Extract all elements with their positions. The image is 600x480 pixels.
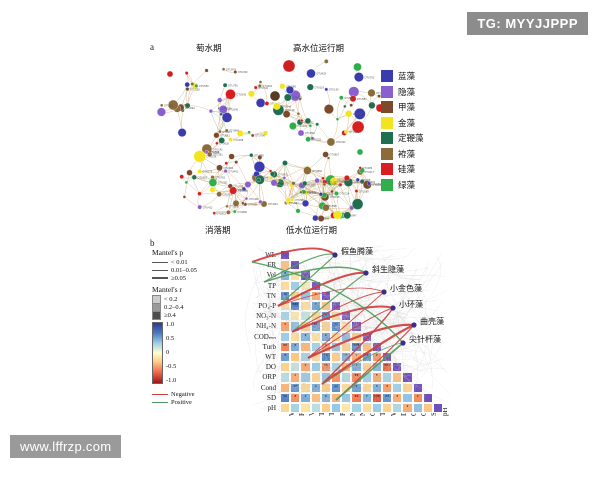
matrix-significance: * [372,386,382,391]
network-node [191,82,194,85]
network-title-2: 高水位运行期 [293,42,344,54]
matrix-cell [331,311,341,321]
matrix-significance: * [280,355,290,360]
network-node [282,160,287,165]
mantel-node-dot [363,270,368,275]
taxa-legend-label: 绿藻 [398,179,415,191]
matrix-cell [331,332,341,342]
network-title-4: 低水位运行期 [286,224,337,236]
matrix-row-label: Cond [228,384,276,392]
network-node [307,69,316,78]
matrix-cell [392,403,402,413]
network-node [343,105,346,108]
matrix-cell [311,393,321,403]
matrix-cell [321,383,331,393]
matrix-cell [372,403,382,413]
network-node [299,191,302,194]
matrix-cell [402,372,412,382]
network-node [336,118,339,121]
taxa-legend-label: 定鞭藻 [398,132,424,144]
network-node [296,209,301,214]
network-node [259,200,263,204]
matrix-cell [300,403,310,413]
matrix-cell [311,332,321,342]
matrix-row-label: Turb [228,343,276,351]
edge-sign-legend: NegativePositive [152,390,194,406]
network-node-label: OTU550 [199,84,209,88]
taxa-legend-item: 硅藻 [381,163,424,175]
matrix-cell [423,403,433,413]
network-cluster: OTU317OTU756OTU796OTU333OTU142OTU626OTU3… [157,67,280,154]
network-node [256,98,265,107]
matrix-cell [372,342,382,352]
matrix-cell [280,301,290,311]
mantel-node-dot [390,305,395,310]
colorbar-tick: 1.0 [166,322,176,329]
edge-sign-line [152,402,168,403]
network-node [215,142,218,145]
mantel-node-label: 曲壳藻 [420,316,444,327]
matrix-significance: * [311,304,321,309]
mantel-node-dot [400,340,405,345]
network-node-label: OTU780 [254,153,264,157]
matrix-significance: *** [321,314,331,319]
network-node-label: OTU189 [359,189,369,193]
network-node [323,152,329,158]
network-node-label: OTU368 [233,138,243,142]
network-node [209,109,213,113]
taxa-color-swatch [381,86,393,98]
matrix-cell [290,352,300,362]
mantel-r-label: 0.2–0.4 [164,304,184,311]
matrix-row-label: CODₘₙ [228,333,276,341]
matrix-significance: *** [382,365,392,370]
mantel-node-label: 假鱼腾藻 [341,246,373,257]
network-node [368,89,376,97]
network-node-label: OTU998 [344,96,354,100]
matrix-cell [300,352,310,362]
matrix-cell [362,332,372,342]
matrix-row-label: Vel [228,271,276,279]
network-node [225,89,235,99]
taxa-legend-label: 隐藻 [398,86,415,98]
matrix-cell [392,362,402,372]
network-node-label: OTU792 [364,75,374,79]
matrix-significance: * [300,396,310,401]
network-node-label: OTU849 [229,129,239,133]
taxa-color-swatch [381,101,393,113]
matrix-cell [321,321,331,331]
network-node-label: OTU551 [248,203,258,207]
network-cluster: OTU339OTU417OTU303OTU599OTU431OTU947OTU9… [269,152,383,222]
network-node-label: OTU974 [226,67,236,71]
matrix-cell [280,281,290,291]
matrix-row-label: WT [228,353,276,361]
mantel-r-item: < 0.2 [152,295,230,303]
figure-canvas: OTU317OTU756OTU796OTU333OTU142OTU626OTU3… [0,0,600,480]
matrix-cell [413,383,423,393]
mantel-r-item: 0.2–0.4 [152,303,230,311]
mantel-background-link [355,274,381,297]
network-node [249,153,253,157]
matrix-cell [321,291,331,301]
network-node [220,113,223,116]
network-node [222,113,232,123]
matrix-cell [280,362,290,372]
network-node [194,150,206,162]
taxa-color-swatch [381,163,393,175]
network-node [352,199,363,210]
network-node [273,103,280,110]
taxa-color-swatch [381,148,393,160]
edge-sign-item: Negative [152,390,194,398]
edge-sign-label: Negative [171,391,194,398]
matrix-cell [341,383,351,393]
matrix-cell [341,311,351,321]
mantel-node-label: 小环藻 [399,299,423,310]
network-node [283,60,295,72]
network-node-label: OTU300 [297,124,307,128]
matrix-cell [290,270,300,280]
network-node [355,190,358,193]
matrix-significance: * [362,396,372,401]
matrix-cell [331,362,341,372]
mantel-background-link [396,313,404,333]
panel-a-tag: a [150,42,154,52]
matrix-cell [321,403,331,413]
matrix-cell [300,342,310,352]
network-node-label: OTU781 [215,176,225,180]
matrix-row-label: pH [228,404,276,412]
network-node [178,128,186,136]
matrix-cell [331,301,341,311]
network-node [270,172,275,177]
network-node-label: OTU469 [249,197,259,201]
matrix-cell [331,393,341,403]
network-node-label: OTU947 [347,214,357,218]
matrix-significance: ** [290,386,300,391]
mantel-legend: Mantel's p < 0.010.01–0.05≥0.05 Mantel's… [152,248,230,319]
matrix-significance: ** [382,396,392,401]
network-node [359,167,362,170]
network-node [183,195,186,198]
taxa-legend-label: 蓝藻 [398,70,415,82]
taxa-legend-item: 定鞭藻 [381,132,424,144]
network-node [195,84,198,87]
matrix-significance: ** [321,355,331,360]
taxa-legend-item: 绿藻 [381,179,424,191]
matrix-significance: *** [372,396,382,401]
network-node-label: OTU705 [306,184,316,188]
matrix-cell [280,403,290,413]
matrix-significance: * [290,345,300,350]
network-node [357,149,363,155]
network-node-label: OTU855 [323,192,333,196]
network-node [198,205,202,209]
matrix-significance: * [382,386,392,391]
network-title-1: 萄水期 [196,42,222,54]
network-node-label: OTU843 [353,112,363,116]
matrix-cell [362,362,372,372]
correlation-colorbar: 1.00.50-0.5-1.0 [152,322,176,384]
network-node [229,154,235,160]
network-node-label: OTU994 [268,202,278,206]
matrix-cell [311,342,321,352]
matrix-cell [300,270,310,280]
network-node [198,169,202,173]
network-node [187,170,193,176]
network-node-label: OTU499 [327,183,337,187]
co-occurrence-networks: OTU317OTU756OTU796OTU333OTU142OTU626OTU3… [0,0,600,240]
taxa-legend-item: 袸藻 [381,148,424,160]
network-node-label: OTU339 [319,216,329,220]
matrix-significance: * [290,375,300,380]
network-node [354,72,363,81]
network-node [233,210,236,213]
network-node [333,211,342,220]
matrix-significance: * [280,324,290,329]
mantel-p-label: < 0.01 [171,259,188,266]
network-node [289,122,296,129]
matrix-cell [362,372,372,382]
matrix-row-label: ORP [228,373,276,381]
network-node [235,160,238,163]
matrix-cell [362,403,372,413]
taxa-legend-item: 隐藻 [381,86,424,98]
network-node [192,175,197,180]
taxa-legend: 蓝藻隐藻甲藻金藻定鞭藻袸藻硅藻绿藻 [381,70,424,191]
network-node-label: OTU658 [339,180,349,184]
matrix-cell [280,383,290,393]
mantel-p-title: Mantel's p [152,248,230,257]
matrix-significance: * [402,406,412,411]
network-node [157,108,166,117]
network-node [223,83,227,87]
matrix-cell [290,321,300,331]
matrix-cell [341,372,351,382]
matrix-cell [341,362,351,372]
network-node [216,165,222,171]
matrix-cell [362,383,372,393]
mantel-p-line [152,262,168,263]
network-node [334,191,338,195]
network-node-label: OTU412 [203,205,213,209]
network-node-label: OTU514 [238,189,248,193]
matrix-significance: ** [280,294,290,299]
matrix-cell [311,362,321,372]
matrix-cell [351,321,361,331]
matrix-cell [311,281,321,291]
network-node [226,205,229,208]
network-node-label: OTU333 [238,70,248,74]
network-node-label: OTU581 [357,97,367,101]
matrix-significance: * [300,335,310,340]
network-node-label: OTU321 [312,137,322,141]
network-node [284,94,291,101]
mantel-r-title: Mantel's r [152,285,230,294]
matrix-significance: * [331,375,341,380]
network-node-label: OTU796 [255,134,265,138]
matrix-significance: ** [311,324,321,329]
matrix-cell [341,332,351,342]
network-node-label: OTU150 [190,87,200,91]
network-node-label: OTU809 [305,131,315,135]
network-node-label: OTU214 [340,192,350,196]
matrix-cell [300,311,310,321]
matrix-cell [392,372,402,382]
matrix-cell [280,372,290,382]
network-node [327,138,335,146]
matrix-significance: *** [290,304,300,309]
network-node-label: OTU486 [362,166,372,170]
network-node [245,181,251,187]
colorbar-gradient [152,322,163,384]
network-node [297,112,300,115]
matrix-cell [423,393,433,403]
network-node [350,104,353,107]
matrix-cell [372,362,382,372]
network-node [319,192,323,196]
network-node [316,123,319,126]
network-node-label: OTU191 [213,153,223,157]
mantel-p-label: ≥0.05 [171,275,186,282]
network-node [344,130,348,134]
matrix-cell [290,311,300,321]
network-node-label: OTU882 [312,169,322,173]
network-node-label: OTU119 [314,85,324,89]
network-node [180,175,184,179]
matrix-significance: * [351,365,361,370]
mantel-node-dot [332,252,337,257]
network-node [218,130,221,133]
network-title-3: 消落期 [205,224,231,236]
network-node [213,212,216,215]
mantel-background-link [359,264,364,299]
network-node-label: OTU681 [220,134,230,138]
matrix-significance: ** [280,345,290,350]
mantel-background-link [319,256,395,263]
network-node [339,96,343,100]
network-node-label: OTU599 [327,204,337,208]
matrix-significance: * [280,273,290,278]
network-node-label: OTU211 [164,104,174,108]
matrix-cell [311,372,321,382]
mantel-node-dot [381,289,386,294]
network-node-label: OTU324 [336,140,346,144]
mantel-p-item: < 0.01 [152,258,230,266]
network-node [254,86,257,89]
network-node [248,131,251,134]
network-node-label: OTU441 [228,169,238,173]
network-node [327,157,330,160]
matrix-cell [300,321,310,331]
network-node-label: OTU932 [304,120,314,124]
network-node [307,84,314,91]
matrix-row-label: WL [228,251,276,259]
matrix-cell [280,332,290,342]
taxa-legend-item: 金藻 [381,117,424,129]
taxa-legend-item: 甲藻 [381,101,424,113]
taxa-color-swatch [381,70,393,82]
matrix-significance: ** [351,375,361,380]
matrix-cell [341,393,351,403]
mantel-background-link [360,285,372,317]
network-node [324,59,328,63]
network-node-label: OTU139 [329,88,339,92]
matrix-cell [341,321,351,331]
matrix-cell [433,403,443,413]
matrix-cell [290,403,300,413]
network-node-label: OTU242 [236,93,246,97]
matrix-cell [382,403,392,413]
matrix-cell [300,372,310,382]
matrix-cell [362,342,372,352]
mantel-background-link [372,247,388,322]
matrix-cell [321,301,331,311]
matrix-cell [402,383,412,393]
matrix-significance: ** [351,396,361,401]
network-node [315,178,320,183]
matrix-significance: * [300,365,310,370]
network-node-label: OTU756 [228,83,238,87]
network-node-label: OTU827 [329,153,339,157]
matrix-row-label: NO₃-N [228,312,276,320]
mantel-node-label: 斜生隐藻 [372,264,404,275]
matrix-cell [321,372,331,382]
matrix-row-label: DO [228,363,276,371]
matrix-significance: * [321,335,331,340]
network-node [257,178,261,182]
network-node [217,98,222,103]
matrix-cell [290,362,300,372]
network-node [241,202,244,205]
network-node-label: OTU547 [303,190,313,194]
taxa-legend-label: 硅藻 [398,163,415,175]
network-node [214,132,220,138]
network-node [271,180,277,186]
colorbar-tick: -1.0 [166,378,176,385]
mantel-r-label: < 0.2 [164,296,177,303]
network-node-label: OTU139 [285,108,295,112]
network-node [167,71,173,77]
matrix-cell [290,260,300,270]
network-node [185,82,190,87]
matrix-cell [351,332,361,342]
network-node [349,87,359,97]
matrix-cell [413,403,423,413]
network-node [290,198,293,201]
network-node [217,192,222,197]
matrix-cell [382,372,392,382]
matrix-cell [331,352,341,362]
matrix-significance: ** [280,396,290,401]
panel-b-tag: b [150,238,155,248]
network-node [309,124,312,127]
network-cluster: OTU324OTU425OTU189OTU932OTU139OTU139OTU9… [273,59,392,146]
network-node [248,90,255,97]
network-node-label: OTU330 [229,205,239,209]
matrix-cell [382,352,392,362]
network-node-label: OTU626 [219,142,229,146]
network-node [210,187,215,192]
matrix-significance: ** [362,355,372,360]
matrix-cell [300,281,310,291]
taxa-legend-label: 袸藻 [398,148,415,160]
mantel-node-label: 小金色藻 [390,283,422,294]
matrix-cell [402,393,412,403]
matrix-cell [311,403,321,413]
matrix-cell [331,342,341,352]
